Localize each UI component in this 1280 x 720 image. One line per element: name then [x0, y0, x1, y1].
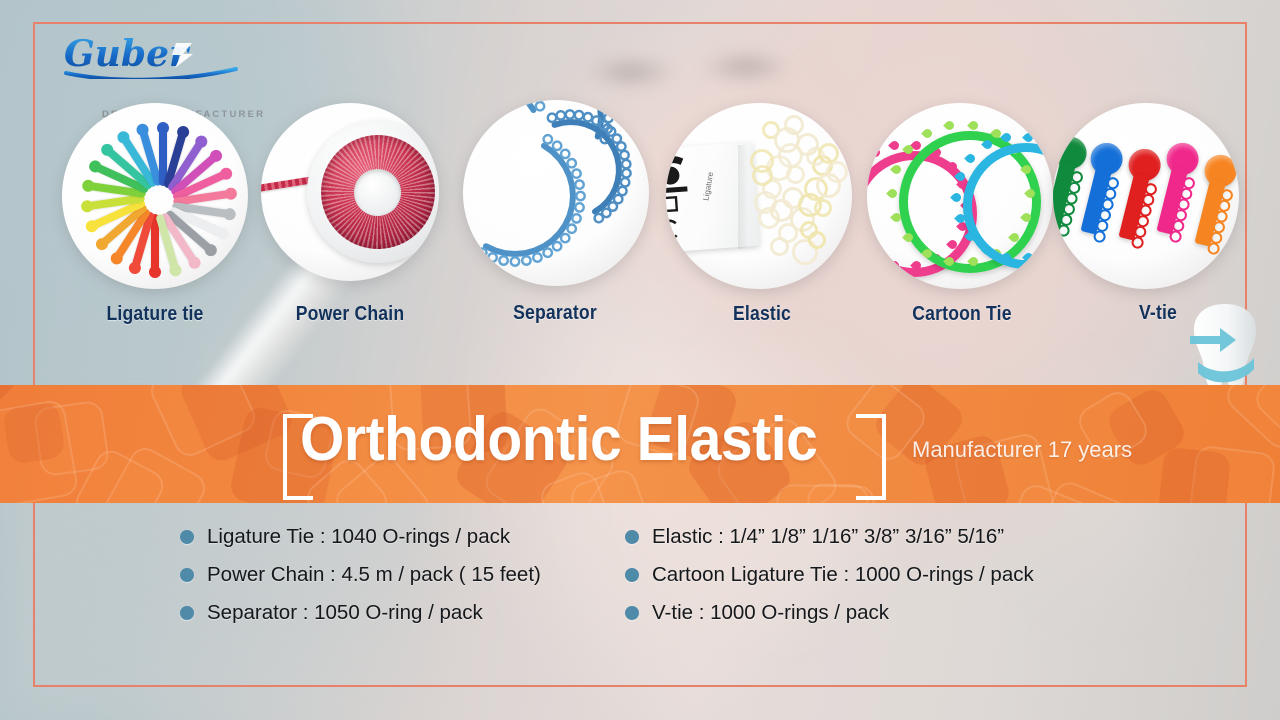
ligature-tie-head: [135, 122, 150, 137]
bullet-dot-icon: [180, 568, 194, 582]
banner-pattern-shape: [1158, 447, 1232, 503]
ligature-tie-head: [94, 236, 111, 253]
product-label-elastic: Elastic: [674, 303, 850, 326]
ligature-tie-head: [168, 263, 183, 278]
ligature-tie-head: [149, 266, 161, 278]
cartoon-tie-petal: [943, 119, 956, 132]
power-chain-spool-photo: [261, 103, 439, 281]
tooth-with-arrow-ribbon-icon: [1188, 300, 1262, 396]
elastic-o-ring: [770, 237, 789, 256]
banner-tagline: Manufacturer 17 years: [912, 437, 1132, 463]
spool-hole: [354, 169, 401, 216]
ligature-tie-head: [186, 254, 203, 271]
spec-list-item: Separator : 1050 O-ring / pack: [180, 594, 541, 632]
elastic-sachet-photo: Ligature: [666, 103, 852, 289]
ligature-tie-head: [157, 122, 169, 134]
cartoon-tie-petal: [1022, 131, 1035, 144]
banner-slide: Guber DENTAL•MANUFACTURER Ligature tie P…: [0, 0, 1280, 720]
spec-text: Elastic : 1/4” 1/8” 1/16” 3/8” 3/16” 5/1…: [652, 525, 1004, 549]
bullet-dot-icon: [625, 530, 639, 544]
spec-text: Power Chain : 4.5 m / pack ( 15 feet): [207, 563, 541, 587]
elastic-o-ring: [826, 161, 848, 183]
cartoon-tie-petal: [889, 139, 902, 152]
banner-pattern-shape: [1221, 385, 1280, 454]
corner-bracket-bottom-right: [856, 434, 886, 500]
cartoon-tie-petal: [869, 146, 882, 159]
cartoon-tie-petal: [967, 119, 980, 132]
product-label-power-chain: Power Chain: [262, 303, 438, 326]
ligature-tie-head: [224, 187, 238, 201]
ligature-tie-head: [87, 159, 103, 175]
ligature-tie-head: [127, 261, 142, 276]
background-eye-right: [700, 50, 792, 84]
spec-text: Separator : 1050 O-ring / pack: [207, 601, 483, 625]
bullet-dot-icon: [180, 530, 194, 544]
separator-strips-photo: [463, 100, 649, 286]
spec-list-item: Cartoon Ligature Tie : 1000 O-rings / pa…: [625, 556, 1034, 594]
separator-strip: [463, 100, 649, 286]
spec-list-item: Ligature Tie : 1040 O-rings / pack: [180, 518, 541, 556]
ligature-tie-photo: [62, 103, 248, 289]
ligature-tie-head: [84, 218, 100, 234]
ligature-tie-head: [99, 141, 116, 158]
product-label-cartoon-tie: Cartoon Tie: [874, 303, 1050, 326]
svg-text:Guber: Guber: [64, 33, 191, 75]
elastic-o-ring: [750, 149, 774, 173]
elastic-o-ring: [808, 231, 826, 249]
ligature-tie-head: [223, 207, 237, 221]
product-label-separator: Separator: [467, 302, 643, 325]
ligature-tie-head: [115, 129, 132, 146]
ligature-tie-head: [80, 199, 94, 213]
elastic-o-ring: [784, 115, 804, 135]
bullet-dot-icon: [625, 606, 639, 620]
spec-list-item: Elastic : 1/4” 1/8” 1/16” 3/8” 3/16” 5/1…: [625, 518, 1034, 556]
spec-text: Ligature Tie : 1040 O-rings / pack: [207, 525, 510, 549]
ligature-tie-head: [218, 166, 234, 182]
ligature-tie-head: [215, 226, 231, 242]
spec-list-item: V-tie : 1000 O-rings / pack: [625, 594, 1034, 632]
elastic-o-ring: [798, 193, 822, 217]
ligature-tie-head: [202, 242, 219, 259]
v-tie-photo: [1053, 103, 1239, 289]
spec-list-item: Power Chain : 4.5 m / pack ( 15 feet): [180, 556, 541, 594]
spec-column-right: Elastic : 1/4” 1/8” 1/16” 3/8” 3/16” 5/1…: [625, 518, 1034, 632]
cartoon-tie-rings-photo: [867, 103, 1053, 289]
cartoon-tie-petal: [921, 127, 934, 140]
background-eye-left: [585, 55, 677, 89]
spec-text: V-tie : 1000 O-rings / pack: [652, 601, 889, 625]
banner-title: Orthodontic Elastic: [300, 404, 817, 475]
spec-column-left: Ligature Tie : 1040 O-rings / packPower …: [180, 518, 541, 632]
bullet-dot-icon: [625, 568, 639, 582]
elastic-o-ring: [754, 191, 777, 214]
ligature-tie-head: [208, 147, 225, 164]
spec-text: Cartoon Ligature Tie : 1000 O-rings / pa…: [652, 563, 1034, 587]
guber-script-logo: Guber: [60, 33, 250, 79]
brand-logo: Guber DENTAL•MANUFACTURER: [60, 33, 250, 95]
bullet-dot-icon: [180, 606, 194, 620]
ligature-tie-head: [193, 133, 210, 150]
ligature-tie-head: [82, 179, 96, 193]
product-label-ligature-tie: Ligature tie: [67, 303, 243, 326]
ligature-tie-head: [108, 250, 125, 267]
ligature-tie-head: [176, 125, 191, 140]
